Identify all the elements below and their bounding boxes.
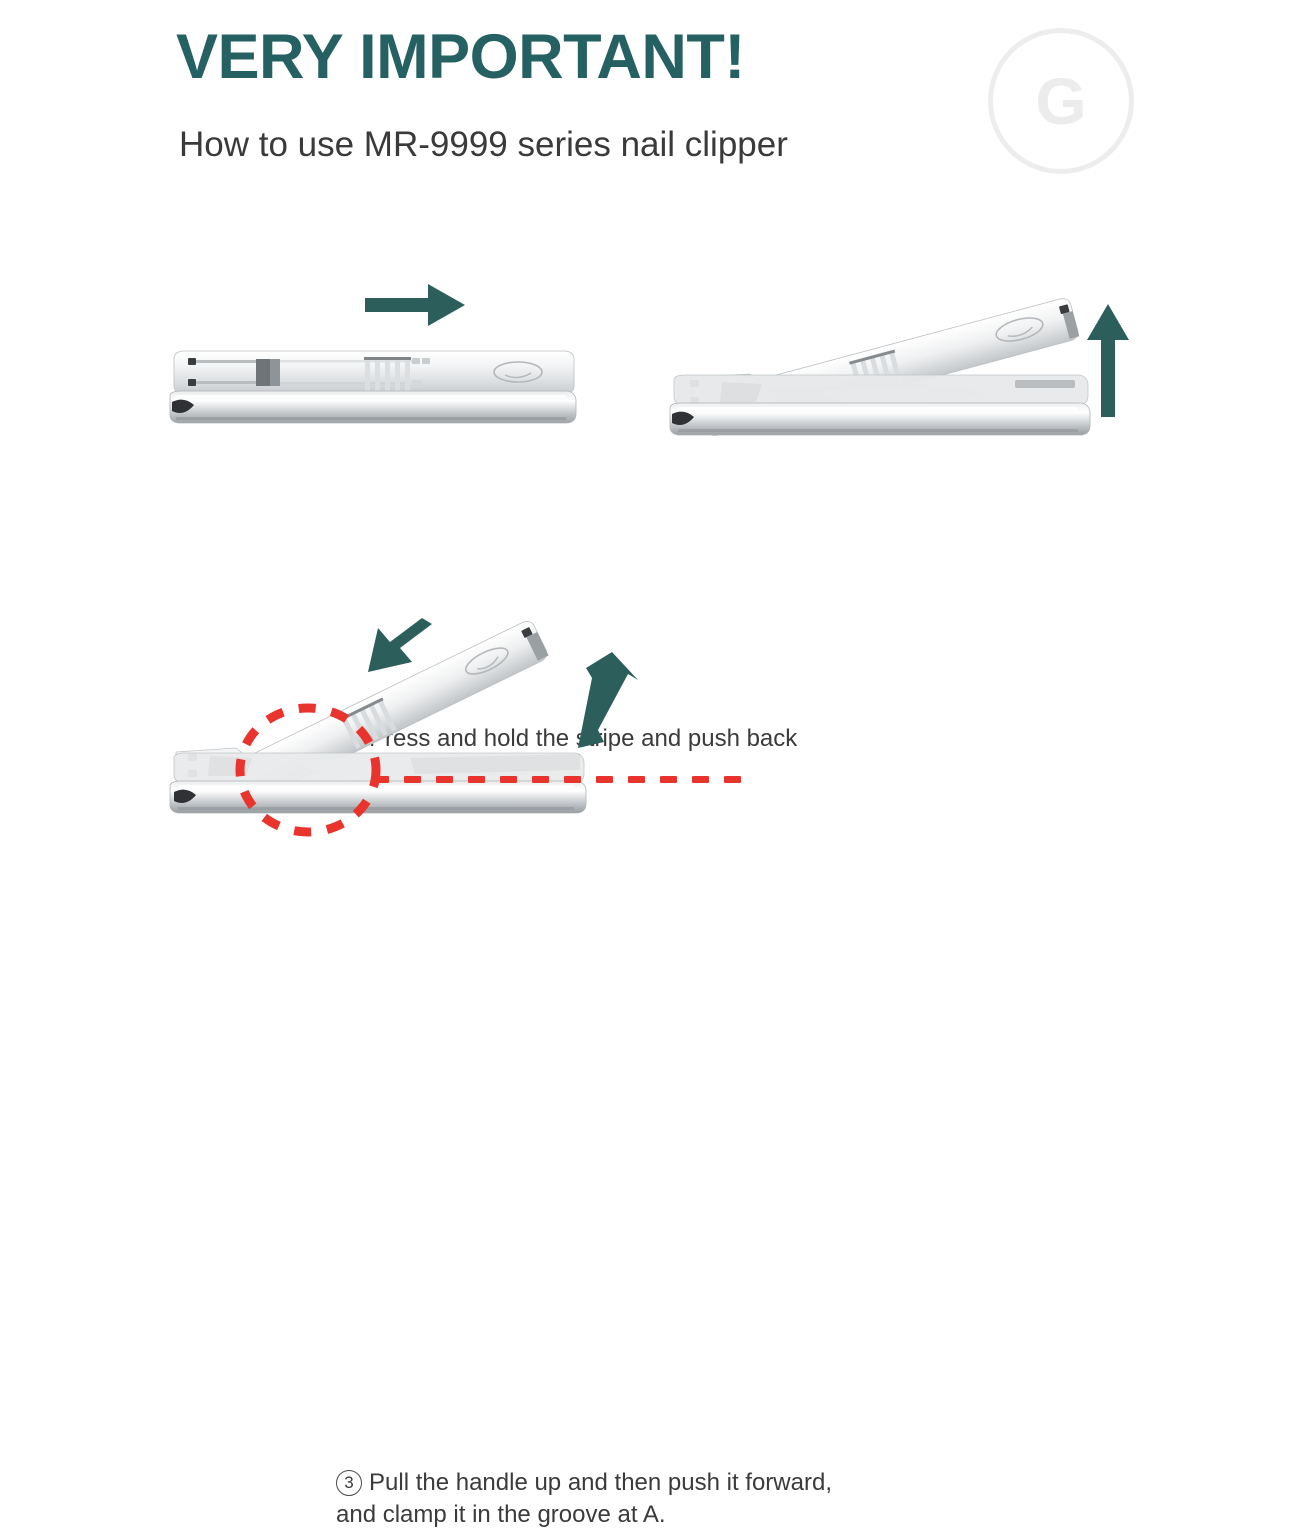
step-3: 3Pull the handle up and then push it for…: [160, 600, 700, 930]
step-3-number: 3: [336, 1470, 362, 1496]
step-1: 1Press and hold the stripe and push back: [160, 262, 660, 512]
nail-clipper-closed-figure: [160, 262, 660, 512]
step-3-caption-text: Pull the handle up and then push it forw…: [369, 1469, 832, 1496]
clipper-lower-handle: [670, 375, 1090, 435]
clipper-upper-lever: [174, 351, 574, 394]
nail-clipper-popped-figure: [660, 262, 1180, 512]
nail-clipper-rotated-figure: [160, 600, 700, 860]
page-header: VERY IMPORTANT! How to use MR-9999 serie…: [0, 0, 1290, 200]
push-forward-arrow-icon: [368, 618, 432, 672]
instruction-page: VERY IMPORTANT! How to use MR-9999 serie…: [0, 0, 1290, 978]
logo-letter: G: [988, 28, 1134, 174]
page-subtitle: How to use MR-9999 series nail clipper: [179, 127, 788, 162]
push-back-arrow-icon: [365, 284, 465, 326]
step-4: A 4Schematic diagram of groove A.: [700, 600, 1120, 930]
pull-up-arrow-icon: [578, 652, 638, 748]
step-2: 2The handle will automatically pop up: [660, 262, 1180, 512]
pop-up-arrow-icon: [1087, 304, 1129, 417]
brand-logo-watermark: G: [988, 28, 1134, 174]
detail-connector-line: [372, 776, 752, 784]
clipper-lower-handle: [170, 391, 576, 423]
page-title: VERY IMPORTANT!: [176, 26, 745, 89]
step-3-caption-text-line2: and clamp it in the groove at A.: [336, 1500, 832, 1530]
step-3-caption: 3Pull the handle up and then push it for…: [336, 1468, 832, 1530]
